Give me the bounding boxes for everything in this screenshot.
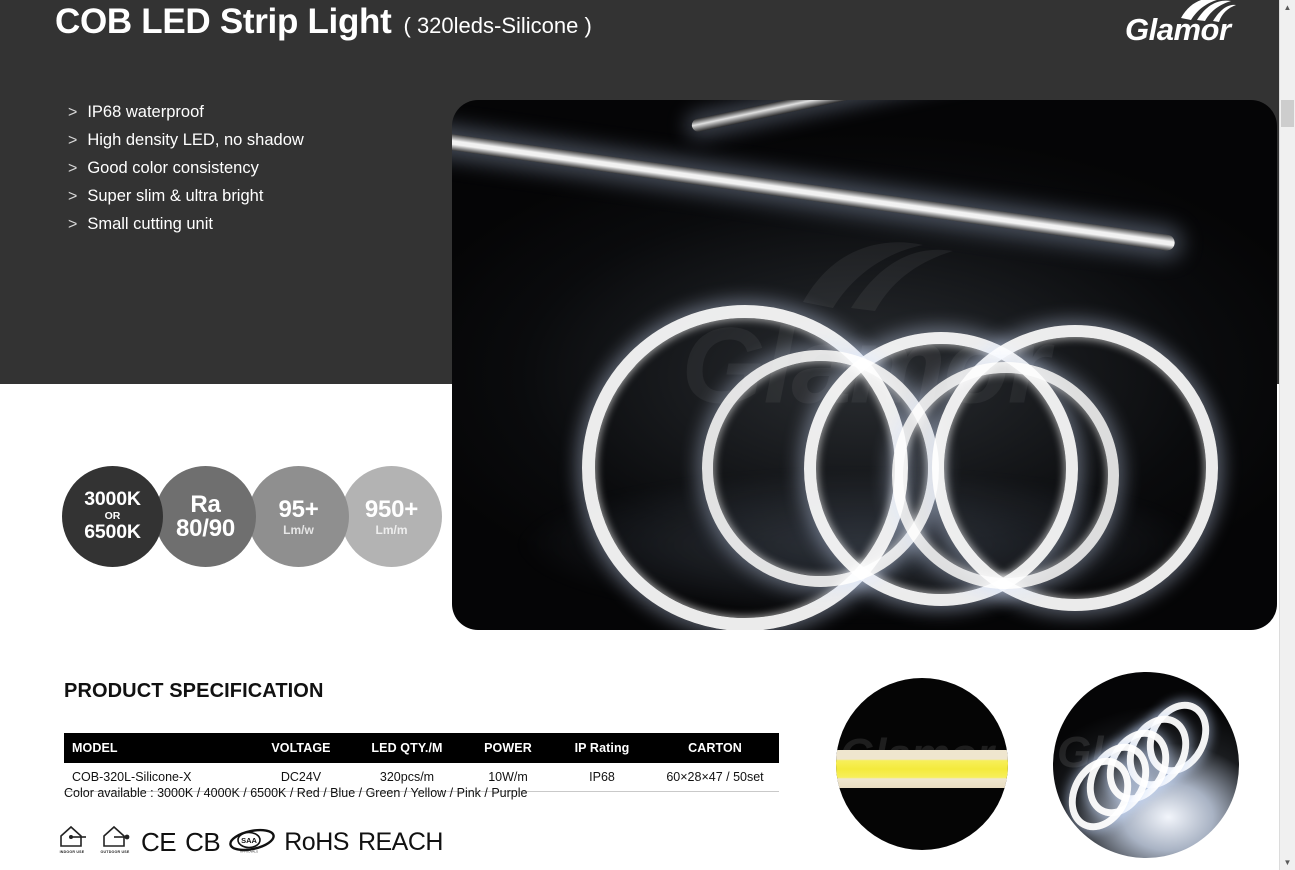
feature-label: IP68 waterproof	[87, 103, 203, 122]
column-header-ip-rating: IP Rating	[553, 733, 651, 763]
color-availability-note: Color available : 3000K / 4000K / 6500K …	[64, 786, 527, 800]
feature-item: > IP68 waterproof	[68, 103, 408, 122]
strip-segment-top-2	[691, 100, 1277, 133]
title-subtitle: ( 320leds-Silicone )	[404, 13, 592, 39]
badge-unit: Lm/w	[283, 524, 314, 536]
product-datasheet-page: COB LED Strip Light ( 320leds-Silicone )…	[0, 0, 1280, 870]
detail-photo-cob-closeup: Glamor	[836, 678, 1008, 850]
column-header-voltage: VOLTAGE	[251, 733, 351, 763]
spec-badge-group: 3000K OR 6500K Ra 80/90 95+ Lm/w 950+ Lm…	[62, 466, 442, 570]
svg-text:APPROVALS: APPROVALS	[240, 850, 258, 854]
certification-row: INDOOR USE OUTDOOR USE CE CB SAA APPROVA…	[55, 820, 443, 864]
ce-mark-icon: CE	[141, 827, 176, 858]
title-main: COB LED Strip Light	[55, 2, 392, 42]
page-title: COB LED Strip Light ( 320leds-Silicone )	[55, 2, 592, 42]
feature-label: High density LED, no shadow	[87, 131, 303, 150]
feature-item: > Small cutting unit	[68, 215, 408, 234]
scroll-down-arrow-icon[interactable]: ▼	[1280, 855, 1295, 870]
table-header-row: MODEL VOLTAGE LED QTY./M POWER IP Rating…	[64, 733, 779, 763]
badge-efficacy: 95+ Lm/w	[248, 466, 349, 567]
house-outdoor-icon: OUTDOOR USE	[98, 824, 132, 860]
watermark-swoosh-icon	[791, 236, 971, 314]
column-header-model: MODEL	[64, 733, 251, 763]
badge-line-2: OR	[105, 511, 121, 522]
feature-label: Small cutting unit	[87, 215, 213, 234]
column-header-power: POWER	[463, 733, 553, 763]
cob-phosphor-strip	[836, 750, 1008, 788]
badge-line-3: 6500K	[84, 523, 140, 543]
spec-section-heading: PRODUCT SPECIFICATION	[64, 680, 324, 703]
badge-line-1: Ra	[190, 493, 220, 517]
bullet-caret-icon: >	[68, 133, 77, 149]
badge-line-1: 950+	[365, 498, 418, 522]
feature-item: > High density LED, no shadow	[68, 131, 408, 150]
strip-ring	[892, 362, 1119, 589]
saa-mark-icon: SAA APPROVALS	[229, 827, 275, 857]
scrollbar-thumb[interactable]	[1281, 100, 1294, 127]
specification-table: MODEL VOLTAGE LED QTY./M POWER IP Rating…	[64, 733, 779, 792]
cb-mark-icon: CB	[185, 827, 220, 858]
brand-logo: Glamor	[1125, 0, 1265, 55]
cell-carton: 60×28×47 / 50set	[651, 763, 779, 792]
svg-text:SAA: SAA	[241, 836, 257, 845]
badge-lumen-per-meter: 950+ Lm/m	[341, 466, 442, 567]
house-outdoor-label: OUTDOOR USE	[101, 850, 130, 854]
bullet-caret-icon: >	[68, 161, 77, 177]
feature-label: Super slim & ultra bright	[87, 187, 263, 206]
feature-label: Good color consistency	[87, 159, 259, 178]
rohs-mark-icon: RoHS	[284, 828, 349, 857]
strip-segment-top	[452, 130, 1176, 252]
house-indoor-label: INDOOR USE	[60, 850, 85, 854]
scroll-up-arrow-icon[interactable]: ▲	[1280, 0, 1295, 15]
badge-line-3: 80/90	[176, 517, 235, 541]
house-indoor-icon: INDOOR USE	[55, 824, 89, 860]
column-header-carton: CARTON	[651, 733, 779, 763]
hero-product-photo: Glamor	[452, 100, 1277, 630]
feature-list: > IP68 waterproof > High density LED, no…	[68, 103, 408, 243]
badge-cri: Ra 80/90	[155, 466, 256, 567]
column-header-led-qty: LED QTY./M	[351, 733, 463, 763]
bullet-caret-icon: >	[68, 105, 77, 121]
badge-line-1: 3000K	[84, 490, 140, 510]
feature-item: > Good color consistency	[68, 159, 408, 178]
reach-mark-icon: REACH	[358, 828, 443, 857]
cell-ip-rating: IP68	[553, 763, 651, 792]
badge-unit: Lm/m	[375, 524, 407, 536]
brand-name: Glamor	[1125, 12, 1265, 48]
vertical-scrollbar[interactable]: ▲ ▼	[1279, 0, 1295, 870]
badge-line-1: 95+	[278, 498, 318, 522]
badge-color-temperature: 3000K OR 6500K	[62, 466, 163, 567]
bullet-caret-icon: >	[68, 189, 77, 205]
feature-item: > Super slim & ultra bright	[68, 187, 408, 206]
detail-photo-coil-lit: Gl	[1053, 672, 1239, 858]
bullet-caret-icon: >	[68, 217, 77, 233]
